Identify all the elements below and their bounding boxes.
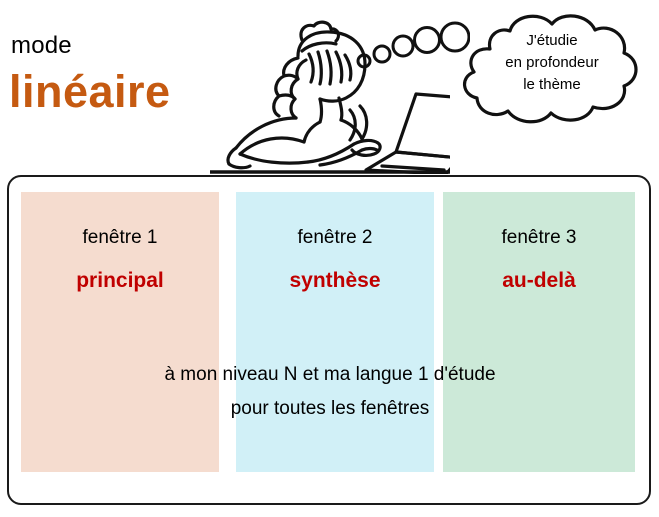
window-column-1-title: fenêtre 1 [21,226,219,250]
footer-note-line-2: pour toutes les fenêtres [60,392,600,426]
mode-value: linéaire [9,64,171,119]
bubble-line-3: le thème [462,74,642,96]
window-column-3-title: fenêtre 3 [443,226,635,250]
footer-note-line-1: à mon niveau N et ma langue 1 d'étude [60,358,600,392]
window-column-2[interactable]: fenêtre 2 synthèse [236,192,434,472]
bubble-line-1: J'étudie [462,30,642,52]
window-column-2-title: fenêtre 2 [236,226,434,250]
footer-note: à mon niveau N et ma langue 1 d'étude po… [60,358,600,426]
window-column-1[interactable]: fenêtre 1 principal [21,192,219,472]
window-column-2-value: synthèse [236,268,434,294]
bubble-line-2: en profondeur [462,52,642,74]
mode-label: mode [11,31,72,61]
slide-canvas: mode linéaire [0,0,659,517]
window-column-3-value: au-delà [443,268,635,294]
window-column-1-value: principal [21,268,219,294]
thought-bubble-text: J'étudie en profondeur le thème [462,30,642,96]
window-column-3[interactable]: fenêtre 3 au-delà [443,192,635,472]
